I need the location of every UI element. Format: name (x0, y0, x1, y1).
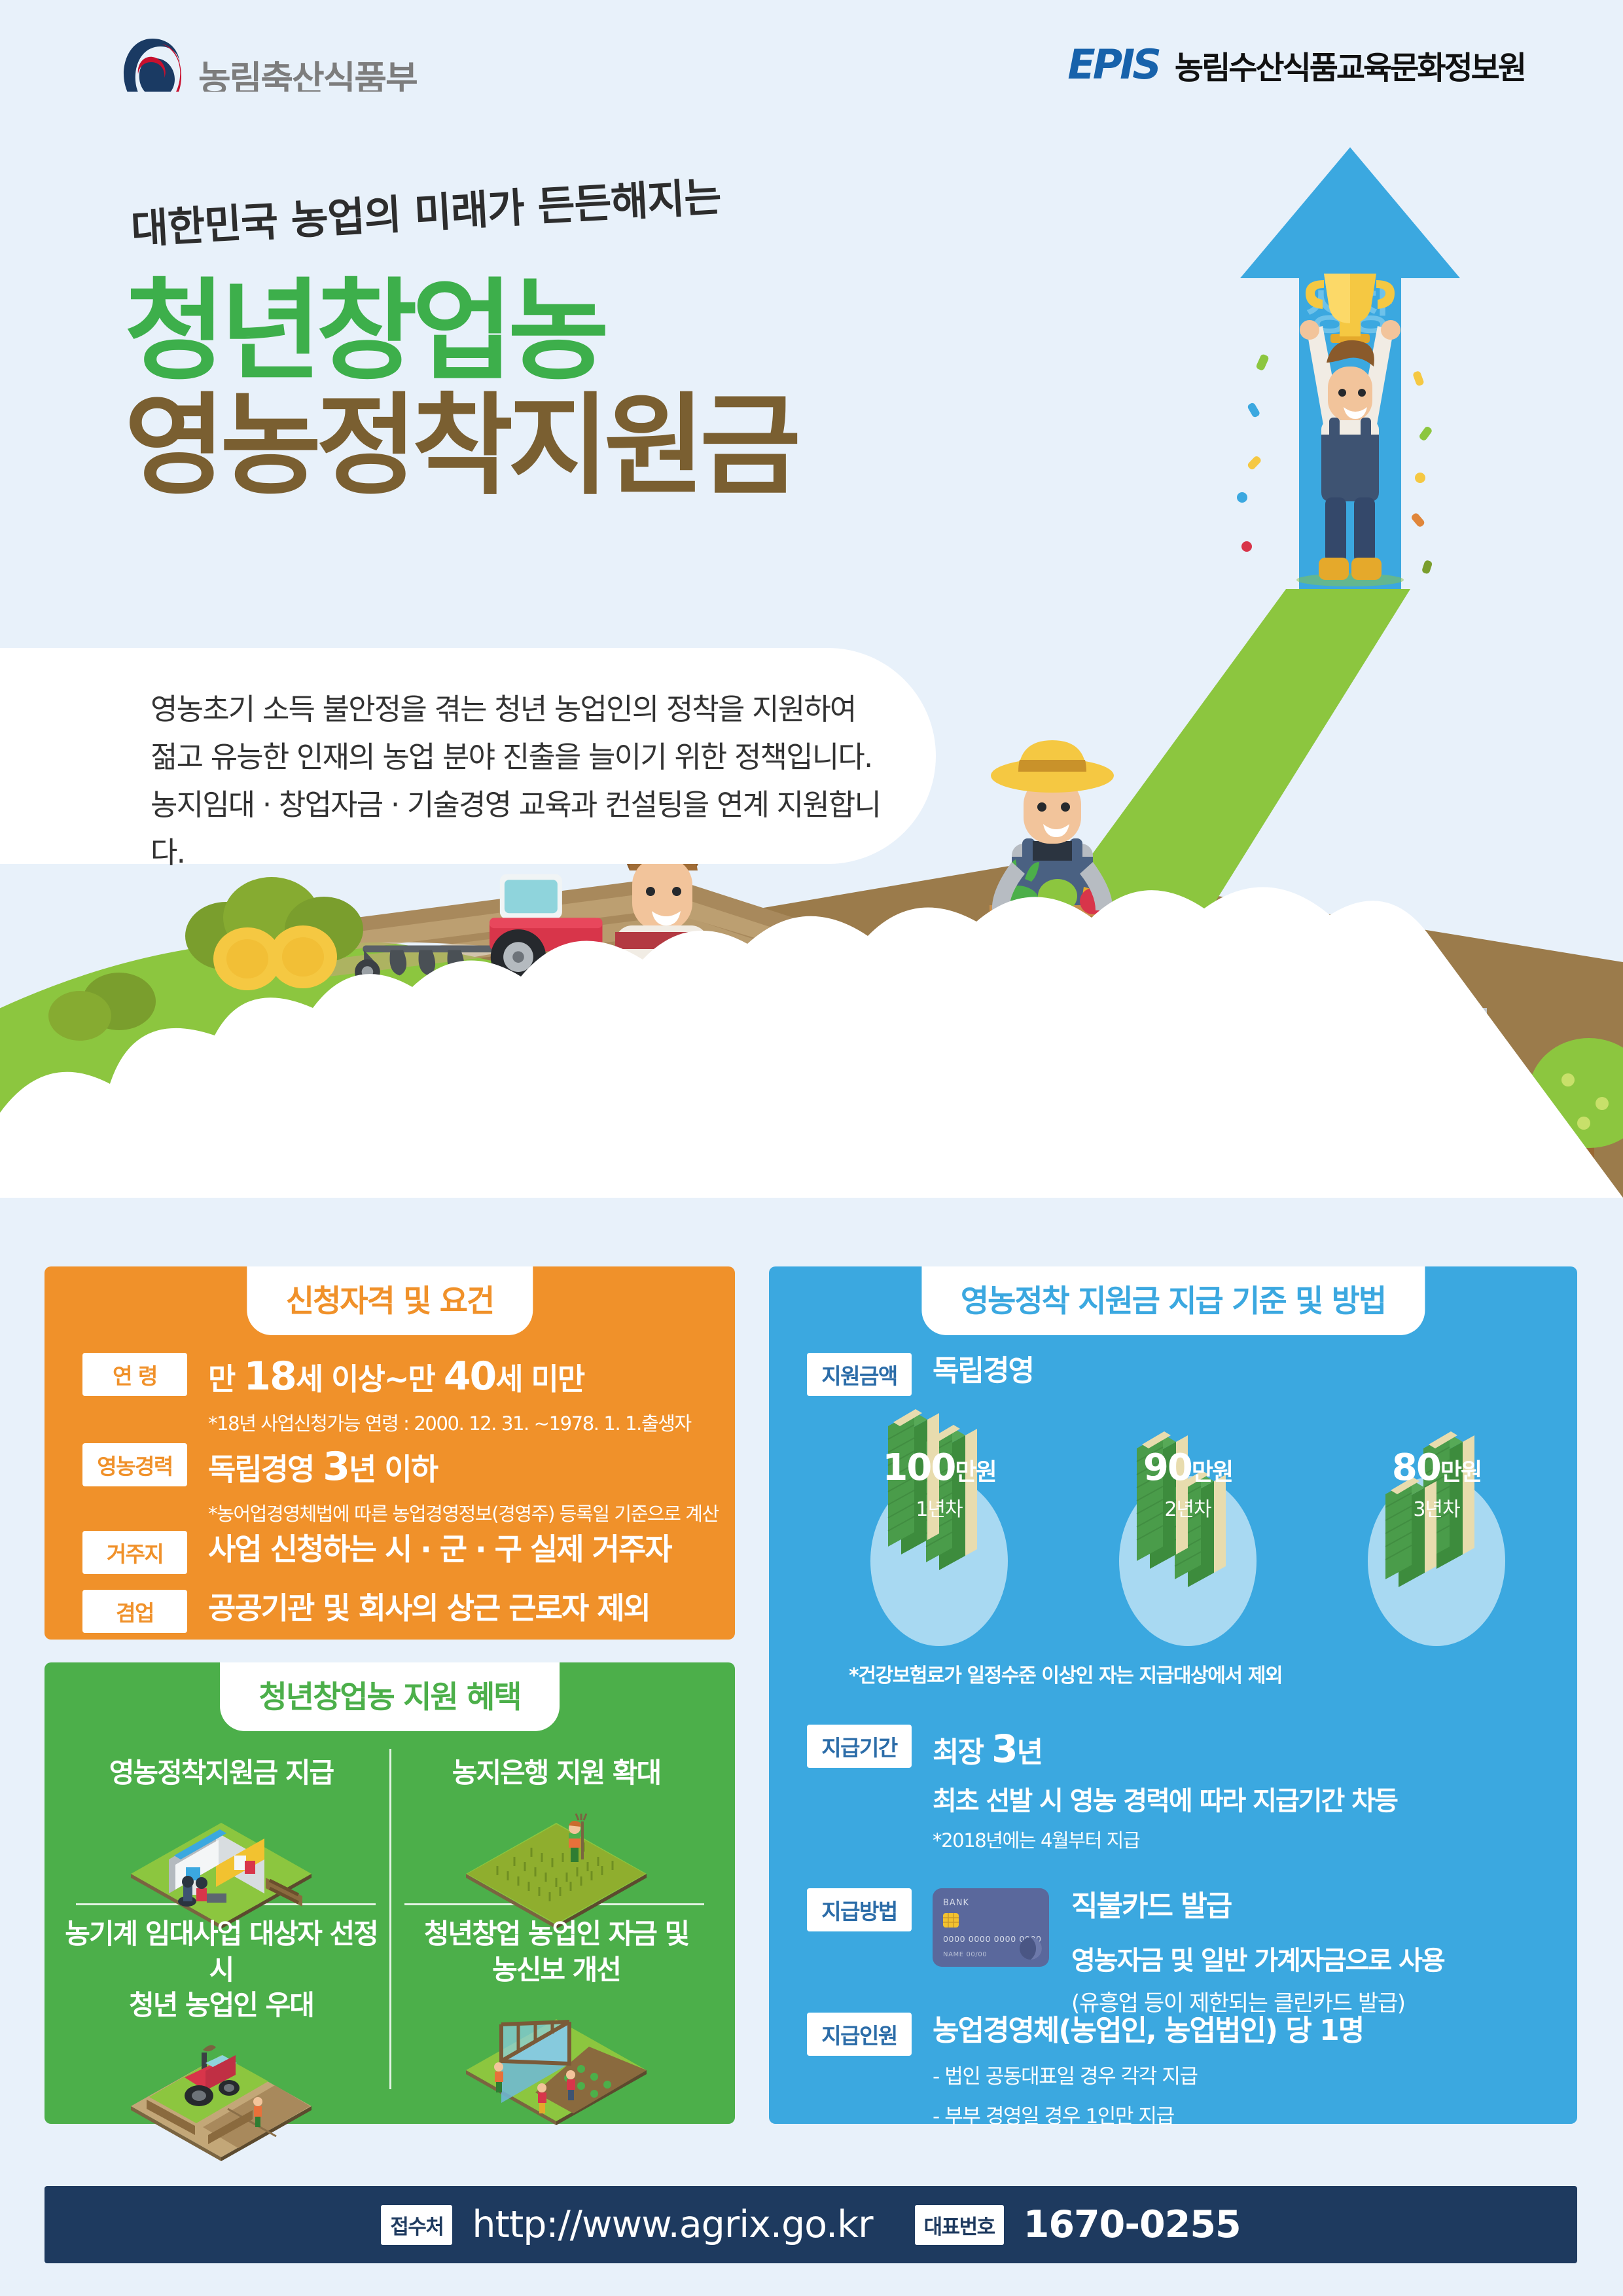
payment-chip-duration: 지급기간 (807, 1725, 912, 1768)
footer-bar: 접수처 http://www.agrix.go.kr 대표번호 1670-025… (45, 2186, 1577, 2263)
benefits-panel-tab: 청년창업농 지원 혜택 (220, 1662, 560, 1731)
payment-row-duration: 지급기간 최장 3년 최초 선발 시 영농 경력에 따라 지급기간 차등 *20… (807, 1725, 1397, 1853)
payment-recipient-bullet-1: - 법인 공동대표일 경우 각각 지급 (933, 2060, 1363, 2089)
payment-recipient-bullet-2: - 부부 경영일 경우 1인만 지급 (933, 2100, 1363, 2129)
qualification-value-residence: 사업 신청하는 시 · 군 · 구 실제 거주자 (208, 1531, 671, 1568)
tractor-field-icon (58, 2037, 385, 2164)
qualification-panel-title: 신청자격 및 요건 (286, 1283, 493, 1319)
qualification-panel: 신청자격 및 요건 연 령 만 18세 이상~만 40세 미만 *18년 사업신… (45, 1266, 735, 1640)
benefit-cell-subsidy: 영농정착지원금 지급 (58, 1755, 385, 1931)
epis-logo-label: 농림수산식품교육문화정보원 (1175, 42, 1525, 88)
payment-method-line-2: 영농자금 및 일반 가계자금으로 사용 (1071, 1939, 1444, 1977)
qualification-row-age: 연 령 만 18세 이상~만 40세 미만 *18년 사업신청가능 연령 : 2… (82, 1353, 691, 1436)
footer-url[interactable]: http://www.agrix.go.kr (472, 2203, 872, 2246)
payment-panel: 영농정착 지원금 지급 기준 및 방법 지원금액 독립경영 (769, 1266, 1577, 2124)
benefits-panel-title: 청년창업농 지원 혜택 (259, 1679, 521, 1715)
payment-row-recipient: 지급인원 농업경영체(농업인, 농업법인) 당 1명 - 법인 공동대표일 경우… (807, 2013, 1363, 2129)
payment-row-method: 지급방법 BANK 0000 0000 0000 0000 NAME 00/00… (807, 1888, 1444, 2017)
qualification-row-residence: 거주지 사업 신청하는 시 · 군 · 구 실제 거주자 (82, 1531, 671, 1574)
payment-recipient-main: 농업경영체(농업인, 농업법인) 당 1명 (933, 2013, 1363, 2049)
qualification-value-age: 만 18세 이상~만 40세 미만 (208, 1353, 691, 1401)
svg-text:NAME 00/00: NAME 00/00 (943, 1951, 987, 1958)
title-line-1: 청년창업농 (124, 272, 796, 391)
payment-duration-sub: 최초 선발 시 영농 경력에 따라 지급기간 차등 (933, 1780, 1397, 1818)
greenhouse-icon (393, 2001, 720, 2128)
bank-building-icon (58, 1804, 385, 1931)
qualification-chip-age: 연 령 (82, 1353, 187, 1396)
epis-wordmark: EPIS (1067, 41, 1159, 88)
footer-telephone[interactable]: 1670-0255 (1024, 2203, 1241, 2246)
benefit-cell-landbank: 농지은행 지원 확대 (393, 1755, 720, 1931)
subsidy-label-year3: 80만원 3년차 (1338, 1450, 1535, 1522)
qualification-note-career: *농어업경영체법에 따른 농업경영정보(경영주) 등록일 기준으로 계산 (208, 1499, 719, 1526)
payment-duration-value: 최장 3년 (933, 1725, 1397, 1773)
grass-field-icon (393, 1804, 720, 1931)
benefit-title-landbank: 농지은행 지원 확대 (393, 1755, 720, 1791)
epis-logo: EPIS 농림수산식품교육문화정보원 (1067, 41, 1525, 88)
subsidy-chart: 100만원 1년차 (841, 1371, 1535, 1646)
footer-chip-tel: 대표번호 (915, 2205, 1004, 2245)
payment-panel-tab: 영농정착 지원금 지급 기준 및 방법 (921, 1266, 1425, 1335)
footer-chip-apply: 접수처 (381, 2205, 452, 2245)
qualification-chip-sidejob: 겸업 (82, 1590, 187, 1633)
qualification-row-sidejob: 겸업 공공기관 및 회사의 상근 근로자 제외 (82, 1590, 650, 1633)
title-block: 대한민국 농업의 미래가 든든해지는 청년창업농 영농정착지원금 (124, 196, 796, 506)
subsidy-exclusion-note: *건강보험료가 일정수준 이상인 자는 지급대상에서 제외 (849, 1659, 1282, 1688)
title-line-2: 영농정착지원금 (124, 387, 796, 505)
payment-method-line-1: 직불카드 발급 (1071, 1888, 1444, 1925)
payment-chip-recipient: 지급인원 (807, 2013, 912, 2056)
benefit-cell-funding: 청년창업 농업인 자금 및 농신보 개선 (393, 1916, 720, 2128)
payment-duration-note: *2018년에는 4월부터 지급 (933, 1825, 1397, 1853)
description-bubble: 영농초기 소득 불안정을 겪는 청년 농업인의 정착을 지원하여 젊고 유능한 … (0, 648, 936, 864)
benefits-divider-vertical (389, 1749, 391, 2089)
description-line-3: 농지임대 · 창업자금 · 기술경영 교육과 컨설팅을 연계 지원합니다. (151, 781, 897, 877)
subsidy-label-year1: 100만원 1년차 (841, 1450, 1037, 1522)
payment-chip-method: 지급방법 (807, 1888, 912, 1931)
qualification-note-age: *18년 사업신청가능 연령 : 2000. 12. 31. ~1978. 1.… (208, 1408, 691, 1436)
benefits-panel: 청년창업농 지원 혜택 영농정착지원금 지급 (45, 1662, 735, 2124)
qualification-value-career: 독립경영 3년 이하 (208, 1443, 719, 1491)
description-line-1: 영농초기 소득 불안정을 겪는 청년 농업인의 정착을 지원하여 (151, 686, 897, 734)
qualification-chip-residence: 거주지 (82, 1531, 187, 1574)
benefit-title-machinery: 농기계 임대사업 대상자 선정시 청년 농업인 우대 (58, 1916, 385, 2024)
qualification-value-sidejob: 공공기관 및 회사의 상근 근로자 제외 (208, 1590, 650, 1626)
svg-text:BANK: BANK (943, 1898, 969, 1908)
benefit-title-subsidy: 영농정착지원금 지급 (58, 1755, 385, 1791)
debit-card-icon: BANK 0000 0000 0000 0000 NAME 00/00 (933, 1888, 1049, 1969)
description-line-2: 젊고 유능한 인재의 농업 분야 진출을 늘이기 위한 정책입니다. (151, 734, 897, 781)
qualification-panel-tab: 신청자격 및 요건 (247, 1266, 533, 1335)
benefit-title-funding: 청년창업 농업인 자금 및 농신보 개선 (393, 1916, 720, 1988)
qualification-chip-career: 영농경력 (82, 1443, 187, 1486)
benefit-cell-machinery: 농기계 임대사업 대상자 선정시 청년 농업인 우대 (58, 1916, 385, 2164)
qualification-row-career: 영농경력 독립경영 3년 이하 *농어업경영체법에 따른 농업경영정보(경영주)… (82, 1443, 719, 1526)
subsidy-label-year2: 90만원 2년차 (1090, 1450, 1286, 1522)
payment-panel-title: 영농정착 지원금 지급 기준 및 방법 (961, 1283, 1385, 1319)
